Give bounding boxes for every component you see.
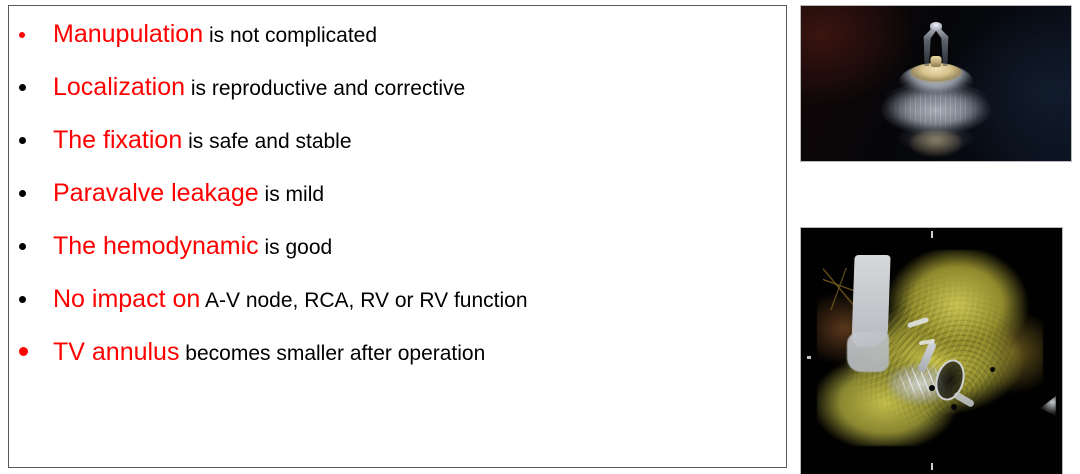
device-tip-cap [930,22,942,30]
bullet-rest: A-V node, RCA, RV or RV function [200,289,527,312]
ct-dark-void [951,404,957,410]
list-item: The fixation is safe and stable [9,126,786,179]
list-item: No impact on A-V node, RCA, RV or RV fun… [9,285,786,338]
bullet-highlight: TV annulus [53,338,179,366]
bullet-highlight: Manupulation [53,20,203,48]
bullet-highlight: The hemodynamic [53,232,259,260]
ct-orientation-tick-bottom [931,463,933,470]
bullet-text: TV annulus becomes smaller after operati… [53,338,786,368]
ct-aortic-root [847,332,889,372]
bullet-rest: is good [259,236,333,259]
black-bullet-icon [19,296,53,303]
bullet-rest: is mild [259,183,324,206]
bullet-highlight: Paravalve leakage [53,179,259,207]
list-item: Manupulation is not complicated [9,20,786,73]
transcatheter-valve-device-render [800,5,1072,162]
ct-orientation-tick-left [807,356,811,359]
list-item: Paravalve leakage is mild [9,179,786,232]
device-hub-knob [931,56,942,67]
bullet-highlight: No impact on [53,285,200,313]
list-item: TV annulus becomes smaller after operati… [9,338,786,391]
bullet-rest: is not complicated [203,24,377,47]
bullet-list: Manupulation is not complicated Localiza… [9,20,786,391]
bullet-rest: is safe and stable [182,130,351,153]
cardiac-ct-volume-rendering [800,227,1063,474]
bullet-text: The hemodynamic is good [53,232,786,262]
bullet-text: Paravalve leakage is mild [53,179,786,209]
ct-dark-void [929,385,935,391]
slide-canvas: Manupulation is not complicated Localiza… [0,0,1080,474]
bullet-text: The fixation is safe and stable [53,126,786,156]
list-item: Localization is reproductive and correct… [9,73,786,126]
list-item: The hemodynamic is good [9,232,786,285]
bullet-panel: Manupulation is not complicated Localiza… [8,5,787,468]
black-bullet-icon [19,243,53,250]
bullet-rest: becomes smaller after operation [179,342,485,365]
bullet-text: No impact on A-V node, RCA, RV or RV fun… [53,285,786,315]
ct-dark-void [990,367,995,372]
bullet-text: Manupulation is not complicated [53,20,786,50]
black-bullet-icon [19,190,53,197]
black-bullet-icon [19,84,53,91]
bullet-rest: is reproductive and corrective [185,77,465,100]
red-large-bullet-icon [19,347,53,356]
bullet-text: Localization is reproductive and correct… [53,73,786,103]
ct-orientation-tick-top [931,231,933,238]
red-small-bullet-icon [19,32,53,38]
bullet-highlight: Localization [53,73,185,101]
black-bullet-icon [19,137,53,144]
bullet-highlight: The fixation [53,126,182,154]
